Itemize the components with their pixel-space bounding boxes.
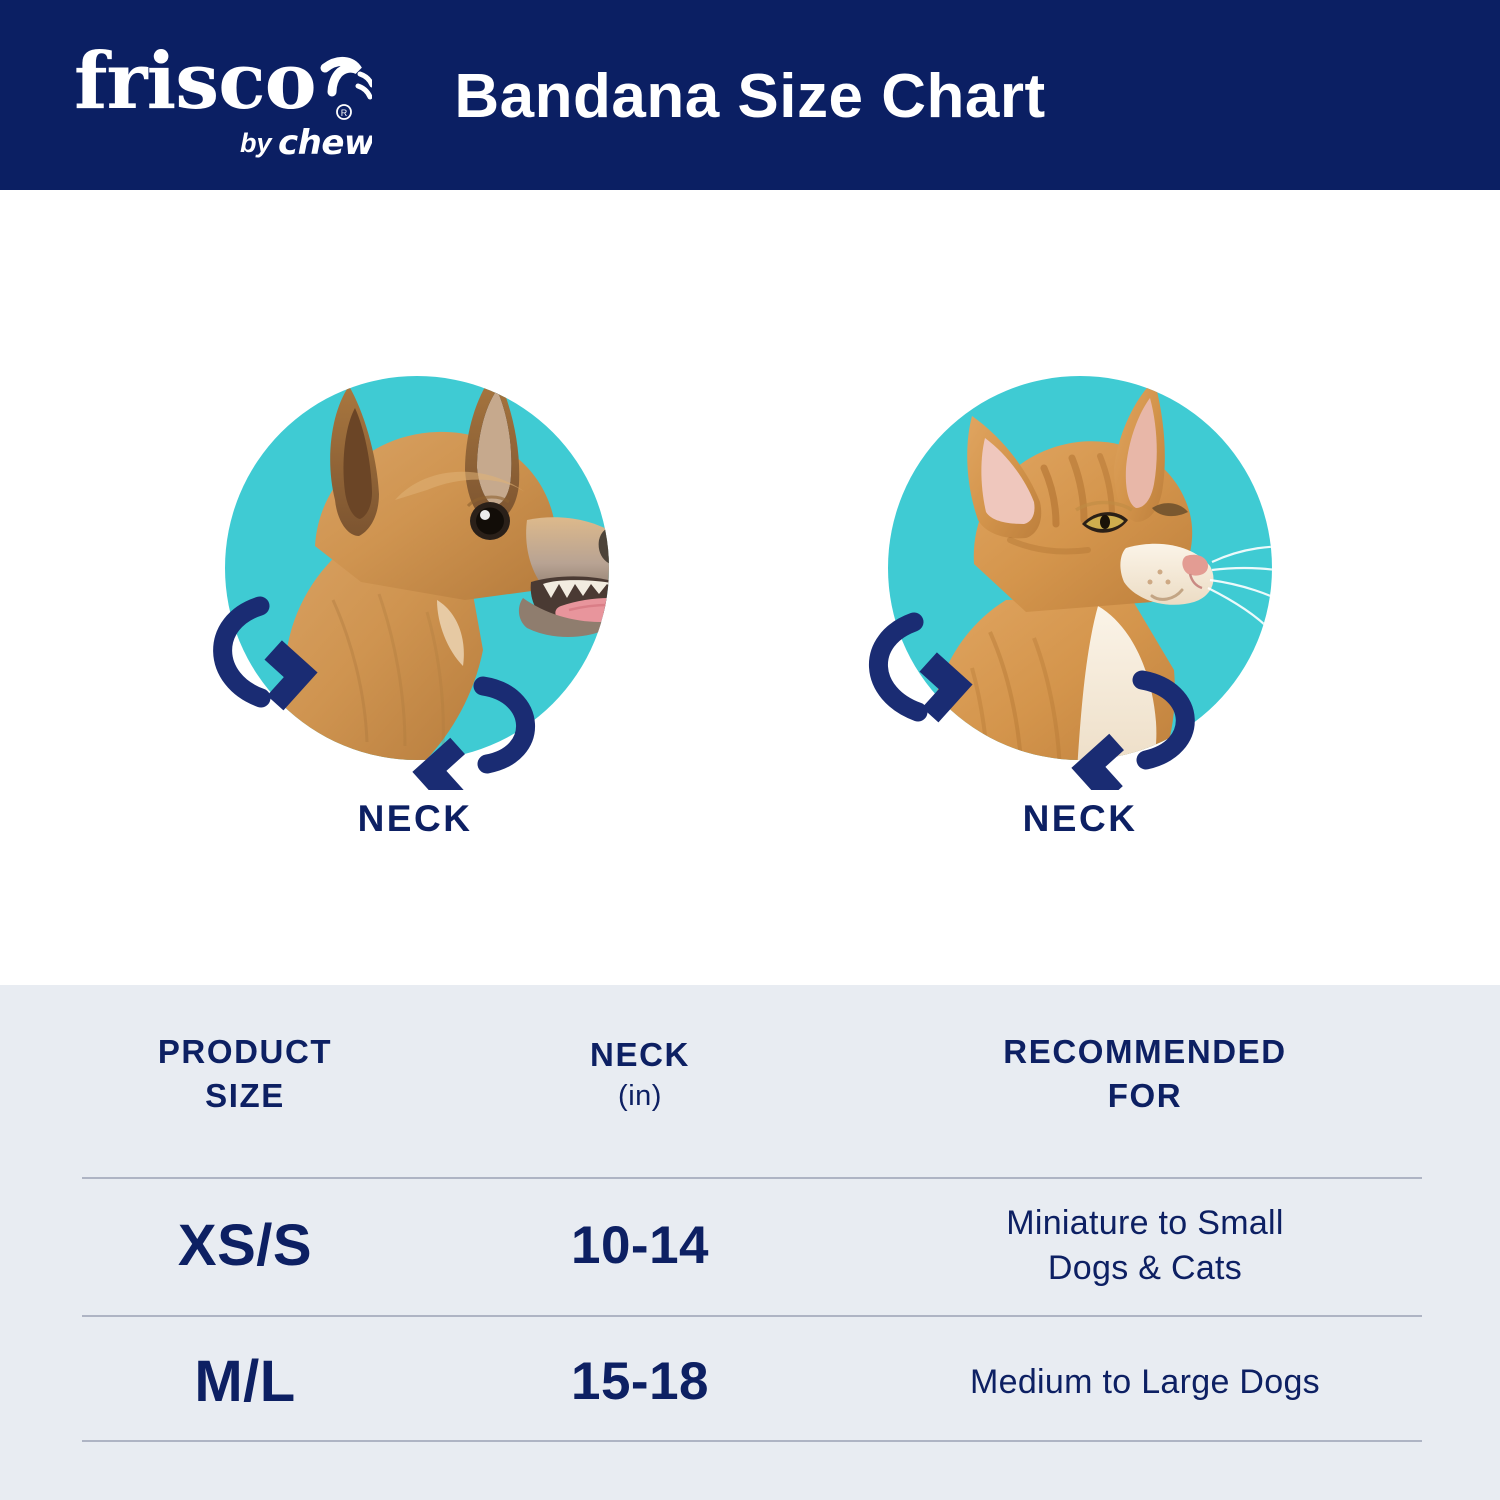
- column-header-neck: NECK (in): [490, 1019, 790, 1129]
- neck-header-line1: NECK: [590, 1033, 690, 1077]
- cat-neck-label: NECK: [830, 798, 1330, 840]
- neck-value: 10-14: [571, 1218, 709, 1274]
- dog-measurement-illustration: NECK: [165, 350, 665, 870]
- recommended-value-line2: Dogs & Cats: [1048, 1246, 1242, 1291]
- recommended-header-line2: FOR: [1108, 1074, 1182, 1118]
- cell-recommended-for: Miniature to Small Dogs & Cats: [790, 1183, 1500, 1309]
- neck-header-unit: (in): [618, 1077, 662, 1116]
- cat-photo-graphic: [830, 350, 1330, 790]
- table-divider-bottom: [82, 1440, 1422, 1442]
- cell-product-size: M/L: [0, 1319, 490, 1445]
- product-size-header-line2: SIZE: [205, 1074, 285, 1118]
- cell-neck: 15-18: [490, 1319, 790, 1445]
- column-header-product-size: PRODUCT SIZE: [0, 1019, 490, 1129]
- product-size-value: XS/S: [178, 1216, 312, 1277]
- column-header-recommended-for: RECOMMENDED FOR: [790, 1019, 1500, 1129]
- product-size-header-line1: PRODUCT: [158, 1030, 332, 1074]
- dog-photo-graphic: [165, 350, 665, 790]
- table-divider-top: [82, 1177, 1422, 1179]
- recommended-value-line1: Miniature to Small: [1006, 1201, 1284, 1246]
- cat-figure: [830, 350, 1330, 790]
- table-divider-middle: [82, 1315, 1422, 1317]
- table-header-row: PRODUCT SIZE NECK (in) RECOMMENDED FOR: [0, 1019, 1500, 1129]
- cell-neck: 10-14: [490, 1183, 790, 1309]
- dog-neck-label: NECK: [165, 798, 665, 840]
- recommended-value-line1: Medium to Large Dogs: [970, 1360, 1320, 1405]
- cell-product-size: XS/S: [0, 1183, 490, 1309]
- page-header: frisco R by chewy Bandana Size Chart: [0, 0, 1500, 190]
- product-size-value: M/L: [194, 1352, 295, 1413]
- table-row: M/L 15-18 Medium to Large Dogs: [0, 1319, 1500, 1445]
- illustration-area: NECK: [0, 190, 1500, 985]
- cat-measurement-illustration: NECK: [830, 350, 1330, 870]
- recommended-header-line1: RECOMMENDED: [1003, 1030, 1286, 1074]
- dog-figure: [165, 350, 665, 790]
- cell-recommended-for: Medium to Large Dogs: [790, 1319, 1500, 1445]
- neck-value: 15-18: [571, 1354, 709, 1410]
- table-row: XS/S 10-14 Miniature to Small Dogs & Cat…: [0, 1183, 1500, 1309]
- page-title: Bandana Size Chart: [0, 0, 1500, 190]
- size-chart-table: PRODUCT SIZE NECK (in) RECOMMENDED FOR X…: [0, 985, 1500, 1500]
